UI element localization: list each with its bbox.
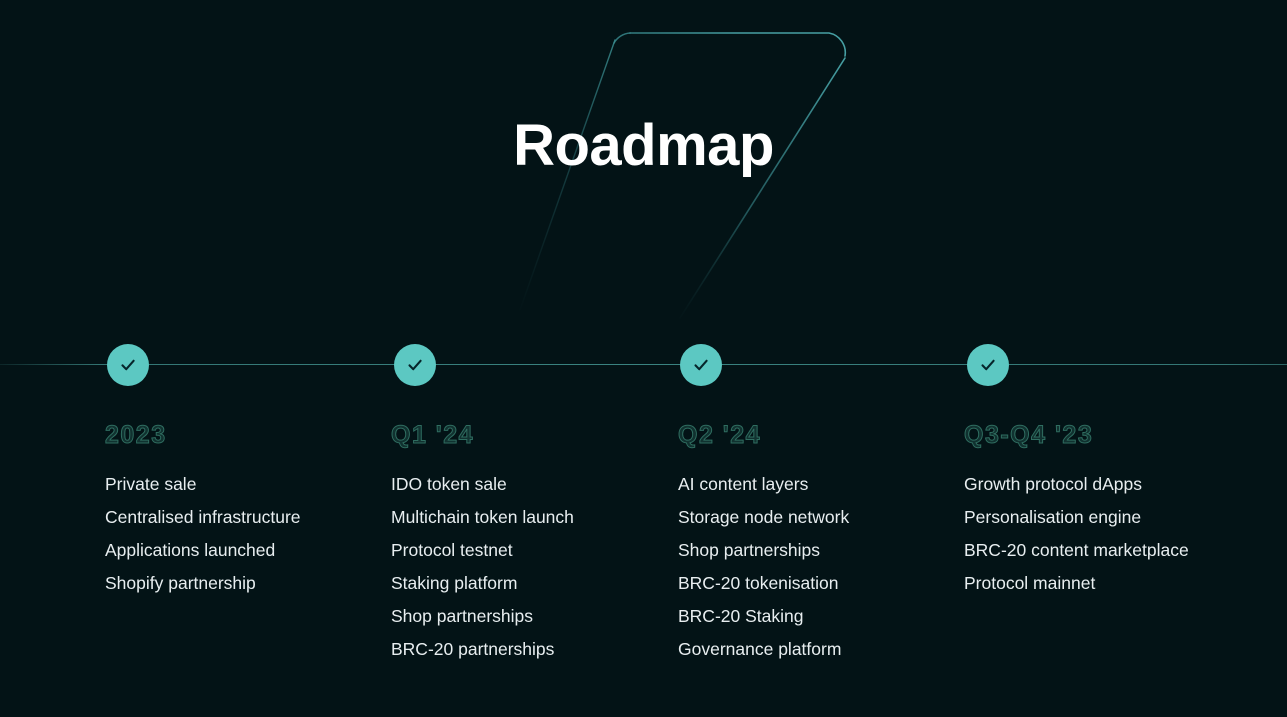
list-item: Shopify partnership <box>105 567 301 600</box>
phase-label: Q3-Q4 '23 <box>964 418 1189 452</box>
milestone-item-list: Growth protocol dApps Personalisation en… <box>964 468 1189 600</box>
milestone-marker-3[interactable] <box>680 344 722 386</box>
list-item: Protocol testnet <box>391 534 574 567</box>
check-icon <box>690 354 712 376</box>
milestone-marker-4[interactable] <box>967 344 1009 386</box>
timeline-axis <box>0 364 1287 365</box>
list-item: Multichain token launch <box>391 501 574 534</box>
list-item: BRC-20 tokenisation <box>678 567 849 600</box>
roadmap-slide: Roadmap 2023 Private sale Centralised in… <box>0 0 1287 717</box>
roadmap-column-4: Q3-Q4 '23 Growth protocol dApps Personal… <box>964 418 1189 600</box>
list-item: Applications launched <box>105 534 301 567</box>
list-item: AI content layers <box>678 468 849 501</box>
list-item: Staking platform <box>391 567 574 600</box>
phase-label: Q1 '24 <box>391 418 574 452</box>
check-icon <box>977 354 999 376</box>
milestone-item-list: IDO token sale Multichain token launch P… <box>391 468 574 666</box>
roadmap-column-2: Q1 '24 IDO token sale Multichain token l… <box>391 418 574 666</box>
roadmap-column-1: 2023 Private sale Centralised infrastruc… <box>105 418 301 600</box>
milestone-marker-2[interactable] <box>394 344 436 386</box>
list-item: BRC-20 content marketplace <box>964 534 1189 567</box>
list-item: Storage node network <box>678 501 849 534</box>
milestone-item-list: AI content layers Storage node network S… <box>678 468 849 666</box>
list-item: BRC-20 Staking <box>678 600 849 633</box>
page-title: Roadmap <box>0 112 1287 180</box>
phase-label: 2023 <box>105 418 301 452</box>
list-item: Centralised infrastructure <box>105 501 301 534</box>
list-item: Shop partnerships <box>391 600 574 633</box>
phase-label: Q2 '24 <box>678 418 849 452</box>
roadmap-column-3: Q2 '24 AI content layers Storage node ne… <box>678 418 849 666</box>
list-item: BRC-20 partnerships <box>391 633 574 666</box>
check-icon <box>404 354 426 376</box>
list-item: Protocol mainnet <box>964 567 1189 600</box>
list-item: Growth protocol dApps <box>964 468 1189 501</box>
check-icon <box>117 354 139 376</box>
milestone-marker-1[interactable] <box>107 344 149 386</box>
list-item: Private sale <box>105 468 301 501</box>
list-item: IDO token sale <box>391 468 574 501</box>
list-item: Shop partnerships <box>678 534 849 567</box>
milestone-item-list: Private sale Centralised infrastructure … <box>105 468 301 600</box>
list-item: Governance platform <box>678 633 849 666</box>
list-item: Personalisation engine <box>964 501 1189 534</box>
